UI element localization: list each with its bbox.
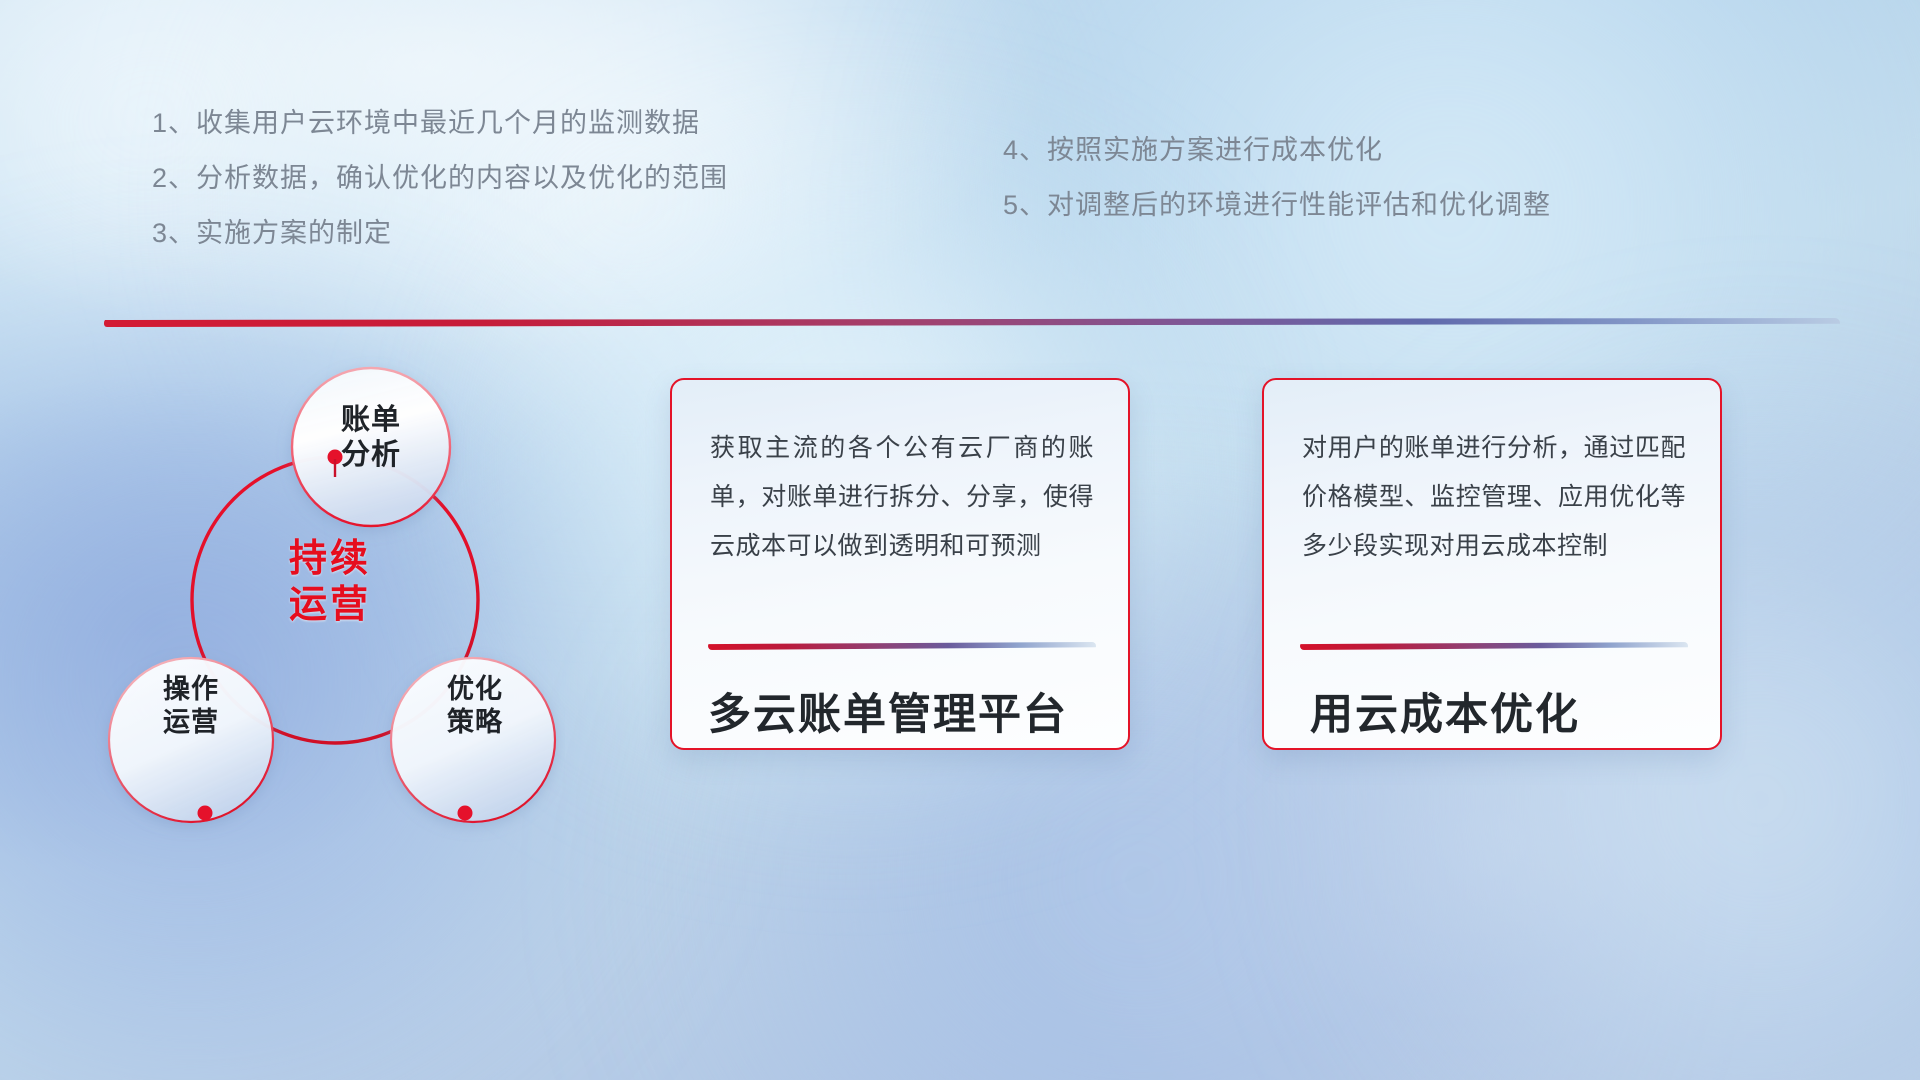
venn-label-right-line2: 策略 bbox=[395, 706, 555, 739]
card-body-text: 获取主流的各个公有云厂商的账单，对账单进行拆分、分享，使得云成本可以做到透明和可… bbox=[710, 424, 1094, 570]
venn-label-left-line2: 运营 bbox=[111, 706, 271, 739]
step-item-4: 4、按照实施方案进行成本优化 bbox=[1003, 128, 1383, 167]
venn-diagram: 账单 分析 持续 运营 操作 运营 优化 策略 bbox=[95, 355, 565, 955]
step-item-3: 3、实施方案的制定 bbox=[152, 211, 392, 250]
venn-label-center-line2: 运营 bbox=[240, 583, 420, 629]
venn-label-top: 账单 分析 bbox=[291, 403, 451, 474]
venn-label-center-line1: 持续 bbox=[240, 537, 420, 583]
venn-label-right-line1: 优化 bbox=[395, 673, 555, 706]
info-card-cost-optimization[interactable]: 对用户的账单进行分析，通过匹配价格模型、监控管理、应用优化等多少段实现对用云成本… bbox=[1262, 378, 1722, 750]
card-divider bbox=[1300, 642, 1688, 650]
card-title: 用云成本优化 bbox=[1310, 680, 1696, 742]
venn-node-right bbox=[458, 806, 473, 821]
venn-label-top-line2: 分析 bbox=[291, 438, 451, 473]
venn-label-top-line1: 账单 bbox=[291, 403, 451, 438]
card-divider bbox=[708, 642, 1096, 650]
venn-label-left: 操作 运营 bbox=[111, 673, 271, 739]
venn-label-center: 持续 运营 bbox=[240, 537, 420, 628]
info-card-multicloud-billing[interactable]: 获取主流的各个公有云厂商的账单，对账单进行拆分、分享，使得云成本可以做到透明和可… bbox=[670, 378, 1130, 750]
venn-node-left bbox=[198, 806, 213, 821]
step-list: 1、收集用户云环境中最近几个月的监测数据 2、分析数据，确认优化的内容以及优化的… bbox=[0, 0, 1920, 260]
card-body-text: 对用户的账单进行分析，通过匹配价格模型、监控管理、应用优化等多少段实现对用云成本… bbox=[1302, 424, 1686, 570]
venn-label-right: 优化 策略 bbox=[395, 673, 555, 739]
step-item-1: 1、收集用户云环境中最近几个月的监测数据 bbox=[152, 101, 700, 140]
step-item-5: 5、对调整后的环境进行性能评估和优化调整 bbox=[1003, 183, 1551, 222]
step-item-2: 2、分析数据，确认优化的内容以及优化的范围 bbox=[152, 156, 728, 195]
venn-label-left-line1: 操作 bbox=[111, 673, 271, 706]
card-title: 多云账单管理平台 bbox=[708, 680, 1104, 742]
